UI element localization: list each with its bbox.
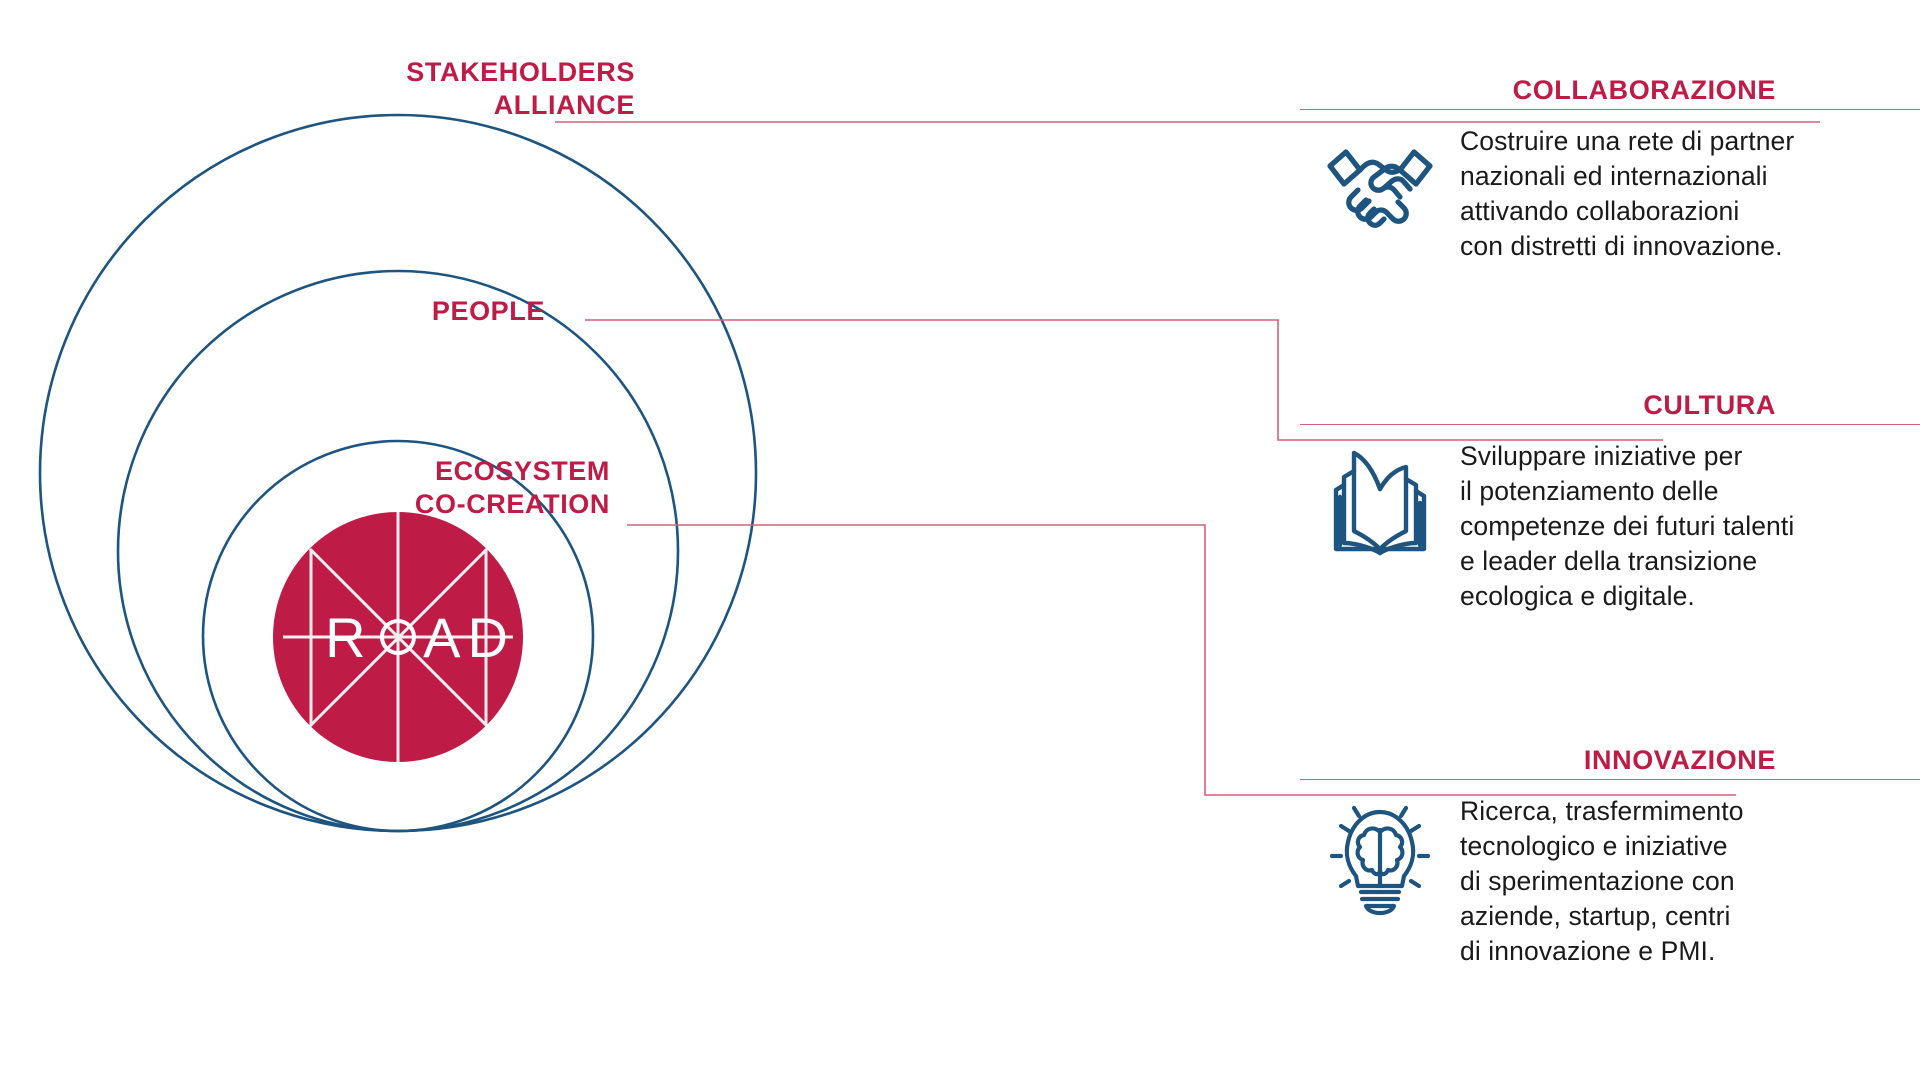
item-innovazione: INNOVAZIONE	[1300, 745, 1920, 969]
infographic-root: ROAD STAKEHOLDERS ALLIANCE PEOPLE ECOSYS…	[0, 0, 1920, 1080]
item-innovazione-text: Ricerca, trasfermimento tecnologico e in…	[1460, 794, 1920, 969]
open-book-icon	[1300, 439, 1460, 557]
item-cultura: CULTURA Sviluppare iniziative per	[1300, 390, 1920, 614]
item-cultura-text: Sviluppare iniziative per il potenziamen…	[1460, 439, 1920, 614]
item-innovazione-title: INNOVAZIONE	[1300, 745, 1920, 779]
item-collaborazione: COLLABORAZIONE	[1300, 75, 1920, 264]
lightbulb-brain-icon	[1300, 794, 1460, 916]
handshake-icon	[1300, 124, 1460, 234]
item-collaborazione-title: COLLABORAZIONE	[1300, 75, 1920, 109]
item-cultura-title: CULTURA	[1300, 390, 1920, 424]
item-collaborazione-text: Costruire una rete di partner nazionali …	[1460, 124, 1920, 264]
descriptions-column: COLLABORAZIONE	[1300, 0, 1920, 1080]
